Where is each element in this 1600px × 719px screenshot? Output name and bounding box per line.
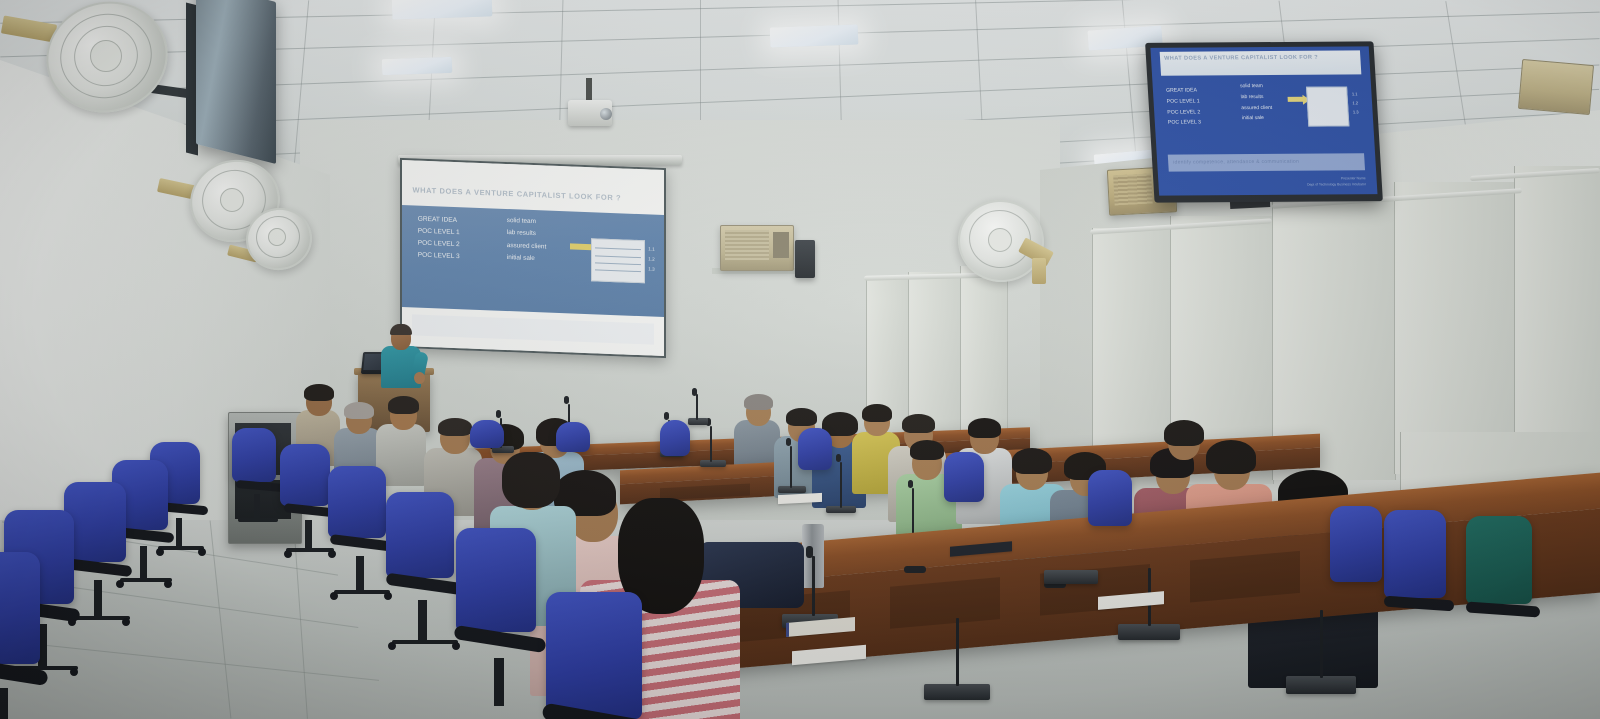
microphone-gooseneck xyxy=(790,446,792,488)
presenter-hand xyxy=(414,372,425,384)
tv-footer-text: identify competence, attendance & commun… xyxy=(1168,159,1299,166)
microphone-head xyxy=(836,454,841,462)
tv-left-item: GREAT IDEA xyxy=(1166,86,1200,97)
tv-middle-column: solid team lab results assured client in… xyxy=(1240,81,1273,124)
slide-version: 1.1 xyxy=(648,245,654,255)
wall-speaker xyxy=(795,240,815,278)
microphone-gooseneck xyxy=(1320,610,1323,678)
slide-left-column: GREAT IDEA POC LEVEL 1 POC LEVEL 2 POC L… xyxy=(418,213,460,263)
microphone-base[interactable] xyxy=(924,684,990,700)
microphone-head xyxy=(806,546,813,558)
attendee-hair xyxy=(744,394,773,410)
tv-left-item: POC LEVEL 2 xyxy=(1167,107,1201,118)
microphone-base[interactable] xyxy=(1044,570,1098,584)
ac-control-panel[interactable] xyxy=(773,232,789,258)
microphone-head xyxy=(564,396,569,404)
microphone-base[interactable] xyxy=(1286,676,1356,694)
ac-grill xyxy=(725,230,769,260)
tv-slide-footer: identify competence, attendance & commun… xyxy=(1168,153,1366,172)
ac-grill xyxy=(1113,173,1153,205)
slide-footer-bar xyxy=(412,315,653,345)
attendee-hair xyxy=(1206,440,1256,474)
slide-version: 1.3 xyxy=(648,264,654,274)
tv-version: 1.2 xyxy=(1352,100,1358,109)
fan-bracket xyxy=(1032,258,1046,284)
microphone-base[interactable] xyxy=(778,486,806,493)
tv-mid-item: solid team xyxy=(1240,81,1272,92)
microphone-gooseneck xyxy=(956,618,959,686)
window-ac-right-2 xyxy=(1518,59,1594,115)
microphone-gooseneck xyxy=(812,556,815,616)
wall-fan-left-3 xyxy=(232,208,310,272)
microphone-head xyxy=(908,480,913,488)
tv-right-arrow-icon xyxy=(1288,97,1304,102)
slide-mid-item: initial sale xyxy=(507,252,546,266)
slide-body: GREAT IDEA POC LEVEL 1 POC LEVEL 2 POC L… xyxy=(402,205,664,317)
fan-hub xyxy=(268,228,286,246)
microphone-head xyxy=(786,438,791,446)
roller-blind-4 xyxy=(1394,182,1516,474)
roller-blind-5 xyxy=(1514,166,1600,466)
projected-slide: WHAT DOES A VENTURE CAPITALIST LOOK FOR … xyxy=(402,160,664,356)
tv-version-labels: 1.1 1.2 1.3 xyxy=(1352,91,1359,117)
microphone-head xyxy=(664,412,669,420)
tv-left-column: GREAT IDEA POC LEVEL 1 POC LEVEL 2 POC L… xyxy=(1166,86,1202,129)
slide-mid-item: lab results xyxy=(507,227,546,241)
microphone-head xyxy=(692,388,697,396)
attendee-hair xyxy=(344,402,374,419)
attendee-hair xyxy=(438,418,472,436)
attendee-hair xyxy=(388,396,419,414)
tv-version: 1.3 xyxy=(1353,108,1359,117)
right-arrow-icon xyxy=(570,244,592,251)
fan-hub xyxy=(90,40,122,72)
attendee-hair xyxy=(786,408,817,426)
fan-hub xyxy=(988,228,1012,252)
attendee-hair xyxy=(902,414,935,433)
attendee-hair xyxy=(862,404,892,422)
microphone-gooseneck xyxy=(696,394,698,420)
attendee-hair xyxy=(1012,448,1052,474)
attendee-hair xyxy=(304,384,334,401)
tv-credit-line2: Dept of Technology Business Incubator xyxy=(1307,182,1366,188)
tv-left-item: POC LEVEL 3 xyxy=(1168,118,1202,129)
slide-left-item: POC LEVEL 3 xyxy=(418,250,460,264)
microphone-gooseneck xyxy=(840,462,842,508)
slide-middle-column: solid team lab results assured client in… xyxy=(507,215,546,266)
ceiling-light-3 xyxy=(770,24,859,47)
slide-version-labels: 1.1 1.2 1.3 xyxy=(648,245,654,274)
ceiling-light-2 xyxy=(382,57,453,75)
attendee-hair xyxy=(502,452,560,508)
microphone-head xyxy=(904,566,926,573)
tv-credit: Presenter Name Dept of Technology Busine… xyxy=(1307,177,1366,188)
tv-mid-item: lab results xyxy=(1240,92,1272,103)
window-ac-back-wall xyxy=(720,225,794,271)
presenter-hair xyxy=(390,324,412,335)
microphone-base[interactable] xyxy=(1118,624,1180,640)
wall-tv-left-rear xyxy=(196,0,276,164)
wall-fan-right-1 xyxy=(958,200,1054,290)
attendee-hair xyxy=(910,440,944,460)
slide-version: 1.2 xyxy=(648,254,654,264)
ceiling-light-1 xyxy=(392,0,493,20)
tv-screen: WHAT DOES A VENTURE CAPITALIST LOOK FOR … xyxy=(1150,46,1377,195)
tv-mini-diagram xyxy=(1306,86,1350,127)
microphone-gooseneck xyxy=(710,426,712,462)
attendee-hair xyxy=(968,418,1001,438)
microphone-gooseneck xyxy=(912,488,914,538)
tv-version: 1.1 xyxy=(1352,91,1358,100)
seminar-hall-photo: WHAT DOES A VENTURE CAPITALIST LOOK FOR … xyxy=(0,0,1600,719)
pull-down-projection-screen: WHAT DOES A VENTURE CAPITALIST LOOK FOR … xyxy=(400,158,666,358)
wall-fan-left-1 xyxy=(18,2,168,112)
microphone-base[interactable] xyxy=(700,460,726,467)
tv-mid-item: assured client xyxy=(1241,103,1273,114)
attendee-hair xyxy=(1164,420,1204,446)
tv-left-item: POC LEVEL 1 xyxy=(1166,97,1200,108)
tv-slide-title: WHAT DOES A VENTURE CAPITALIST LOOK FOR … xyxy=(1164,55,1318,62)
microphone-head xyxy=(496,410,501,418)
tv-mid-item: initial sale xyxy=(1242,113,1274,124)
slide-mini-diagram xyxy=(591,238,645,283)
wall-tv-right: WHAT DOES A VENTURE CAPITALIST LOOK FOR … xyxy=(1145,41,1383,202)
projector-lens-icon xyxy=(600,108,612,120)
microphone-base[interactable] xyxy=(688,418,708,425)
